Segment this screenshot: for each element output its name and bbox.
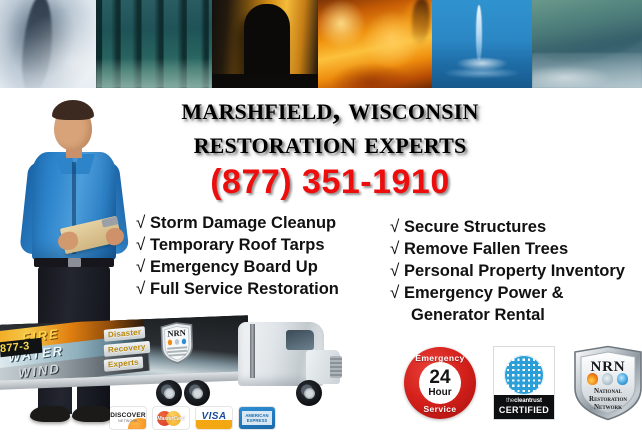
service-label-line-1: Emergency Power & — [404, 284, 564, 302]
service-label: Personal Property Inventory — [404, 260, 625, 282]
mastercard-label: MasterCard — [153, 416, 189, 422]
trailer-nrn-shield-icon: NRN — [159, 321, 194, 365]
nrn-line-2: Restoration — [572, 395, 642, 403]
checkmark-icon: √ — [136, 256, 150, 278]
service-item: √ Remove Fallen Trees — [390, 238, 640, 260]
checkmark-icon: √ — [136, 278, 150, 300]
amex-label: AMERICAN EXPRESS — [242, 411, 272, 425]
restoration-advertisement: Marshfield, Wisconsin Restoration Expert… — [0, 0, 642, 432]
amex-card-icon: AMERICAN EXPRESS — [239, 407, 275, 429]
truck-wheel — [156, 380, 182, 406]
service-item: √ Emergency Power & Generator Rental — [390, 282, 640, 326]
service-item: √ Temporary Roof Tarps — [136, 234, 386, 256]
tornado-photo — [0, 0, 96, 88]
wave-photo — [532, 0, 642, 88]
wind-icon — [602, 373, 613, 385]
globe-icon — [504, 355, 544, 395]
checkmark-icon: √ — [390, 260, 404, 282]
service-label: Remove Fallen Trees — [404, 238, 568, 260]
flames-photo — [318, 0, 432, 88]
discover-card-icon: DISCOVER NETWORK — [110, 407, 146, 429]
badge-emergency-bottom-text: Service — [404, 404, 476, 414]
service-item: √ Personal Property Inventory — [390, 260, 640, 282]
checkmark-icon: √ — [390, 282, 404, 304]
service-label-wrapped: Emergency Power & Generator Rental — [404, 282, 564, 326]
badge-emergency-center: 24 Hour — [419, 362, 461, 404]
disaster-photo-banner — [0, 0, 642, 88]
service-item: √ Storm Damage Cleanup — [136, 212, 386, 234]
truck-grille — [330, 356, 342, 378]
visa-card-icon: VISA — [196, 407, 232, 429]
truck-exhaust-stack — [250, 324, 255, 378]
contractor-hair — [52, 100, 94, 120]
certification-badges: Emergency 24 Hour Service thecleantrust … — [404, 345, 642, 421]
fire-icon — [587, 373, 598, 385]
cleantrust-brand: thecleantrust — [506, 398, 542, 405]
cleantrust-certified-badge: thecleantrust CERTIFIED — [494, 347, 554, 419]
truck-wheel — [184, 380, 210, 406]
service-label: Storm Damage Cleanup — [150, 212, 336, 234]
firefighter-photo — [212, 0, 318, 88]
storm-palms-photo — [96, 0, 212, 88]
svg-text:NRN: NRN — [167, 327, 187, 338]
service-label: Emergency Board Up — [150, 256, 318, 278]
service-label: Full Service Restoration — [150, 278, 339, 300]
accepted-payment-methods: DISCOVER NETWORK MasterCard VISA AMERICA… — [110, 407, 275, 429]
service-label-line-2: Generator Rental — [404, 304, 564, 326]
service-label: Secure Structures — [404, 216, 546, 238]
cleantrust-label-block: thecleantrust CERTIFIED — [494, 395, 554, 419]
nrn-line-3: Network — [572, 403, 642, 411]
phone-number[interactable]: (877) 351-1910 — [118, 164, 542, 200]
nrn-line-1: National — [572, 387, 642, 395]
service-item: √ Full Service Restoration — [136, 278, 386, 300]
emergency-24-hour-service-badge: Emergency 24 Hour Service — [404, 347, 476, 419]
headline-block: Marshfield, Wisconsin Restoration Expert… — [118, 92, 542, 200]
service-label: Temporary Roof Tarps — [150, 234, 325, 256]
service-item: √ Emergency Board Up — [136, 256, 386, 278]
service-list-left: √ Storm Damage Cleanup √ Temporary Roof … — [136, 212, 386, 300]
water-icon — [617, 373, 628, 385]
nrn-shield-badge: NRN National Restoration Network — [572, 345, 642, 421]
badge-emergency-number: 24 — [429, 369, 450, 387]
cleantrust-brand-name: cleantrust — [514, 398, 542, 404]
cleantrust-brand-the: the — [506, 398, 514, 404]
truck-cab-window — [286, 330, 314, 350]
mastercard-card-icon: MasterCard — [153, 407, 189, 429]
checkmark-icon: √ — [136, 212, 150, 234]
semi-truck-graphic: FIRE WATER WIND Disaster Recovery Expert… — [0, 318, 348, 414]
discover-label: DISCOVER — [110, 412, 146, 419]
headline-line-1: Marshfield, Wisconsin — [118, 92, 542, 126]
discover-sublabel: NETWORK — [110, 419, 146, 423]
cleantrust-status: CERTIFIED — [499, 405, 549, 416]
headline-line-2: Restoration Experts — [118, 126, 542, 160]
checkmark-icon: √ — [136, 234, 150, 256]
checkmark-icon: √ — [390, 216, 404, 238]
service-item: √ Secure Structures — [390, 216, 640, 238]
visa-label: VISA — [196, 411, 232, 422]
contractor-belt-buckle — [68, 258, 81, 267]
service-list-right: √ Secure Structures √ Remove Fallen Tree… — [390, 216, 640, 326]
truck-wheel — [296, 380, 322, 406]
water-drop-photo — [432, 0, 532, 88]
badge-emergency-unit: Hour — [428, 387, 451, 398]
checkmark-icon: √ — [390, 238, 404, 260]
